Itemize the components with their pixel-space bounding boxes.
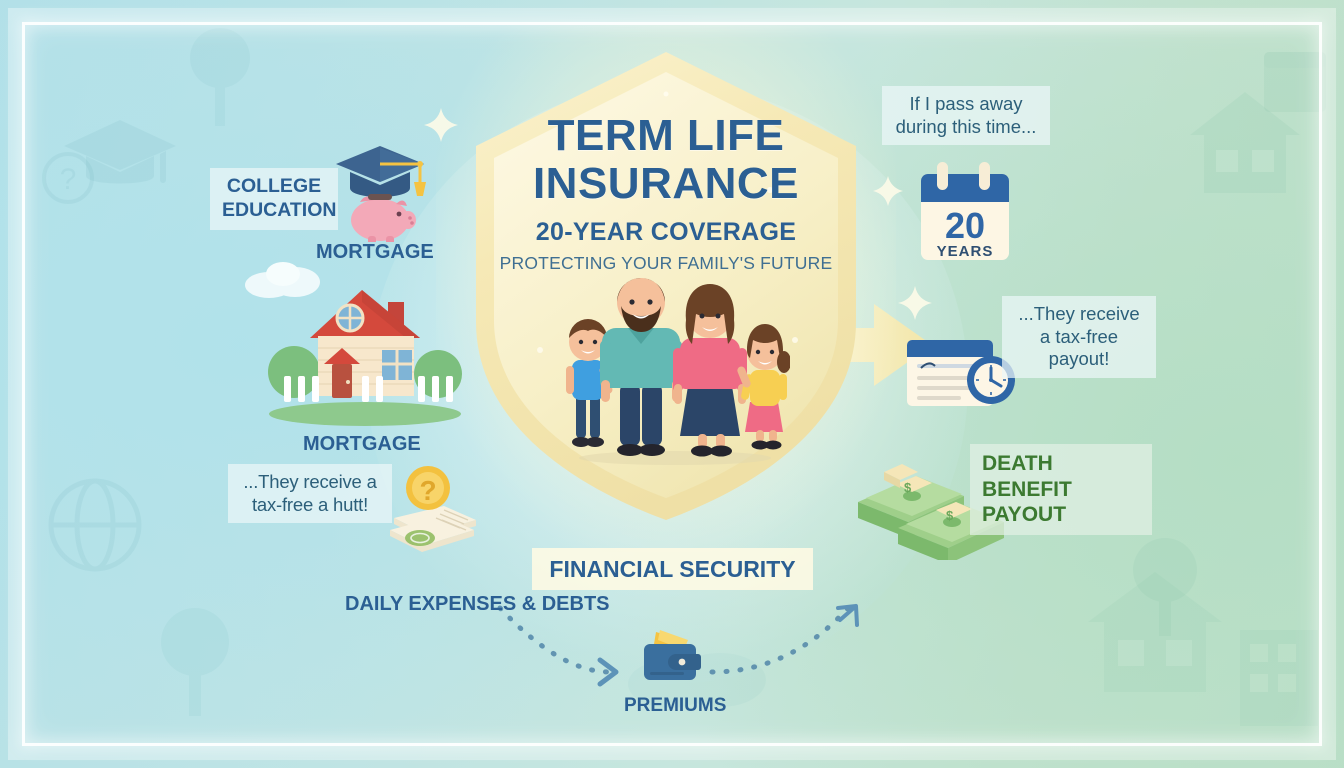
svg-text:$: $ [904, 480, 912, 495]
ghost-tree-icon [180, 20, 260, 130]
arrow-up-right-icon [838, 606, 857, 625]
death-benefit-payout-label: DEATH BENEFIT PAYOUT [970, 444, 1152, 535]
shield-text-block: TERM LIFE INSURANCE 20-YEAR COVERAGE PRO… [470, 114, 862, 274]
svg-text:$: $ [946, 508, 954, 523]
tax-free-payout-callout-garbled: ...They receive a tax-free a hutt! [228, 464, 392, 523]
ghost-question-circle-icon: ? [40, 150, 96, 206]
calendar-unit: YEARS [937, 243, 994, 260]
sparkle-icon [873, 176, 903, 206]
mortgage-label-top: MORTGAGE [316, 240, 434, 264]
calendar-icon: 20 YEARS [915, 162, 1015, 264]
infographic-canvas: ? [0, 0, 1344, 768]
svg-text:?: ? [419, 475, 436, 506]
coverage-subtitle: 20-YEAR COVERAGE [470, 218, 862, 247]
financial-security-label: FINANCIAL SECURITY [532, 548, 813, 590]
sparkle-icon [424, 108, 458, 142]
tax-free-payout-callout: ...They receive a tax-free payout! [1002, 296, 1156, 378]
dotted-path-left [500, 608, 610, 672]
daily-expenses-label: DAILY EXPENSES & DEBTS [345, 592, 610, 616]
paper-stack-icon [390, 506, 476, 552]
family-icon [560, 262, 790, 472]
pass-away-callout: If I pass away during this time... [882, 86, 1050, 145]
ghost-calendar-icon [1260, 40, 1330, 120]
premiums-label: PREMIUMS [624, 694, 726, 717]
ghost-house-icon [1180, 80, 1310, 200]
svg-text:?: ? [60, 163, 77, 196]
sparkle-icon [898, 286, 932, 320]
dotted-path-right [712, 608, 848, 672]
page-title-line2: INSURANCE [470, 162, 862, 206]
page-title-line1: TERM LIFE [470, 114, 862, 158]
house-icon [262, 268, 468, 426]
graduation-cap-icon [334, 142, 426, 242]
ghost-graduation-cap-icon [60, 110, 180, 200]
mortgage-label-middle: MORTGAGE [303, 432, 421, 456]
calendar-number: 20 [945, 205, 985, 246]
college-education-label: COLLEGE EDUCATION [210, 168, 338, 230]
